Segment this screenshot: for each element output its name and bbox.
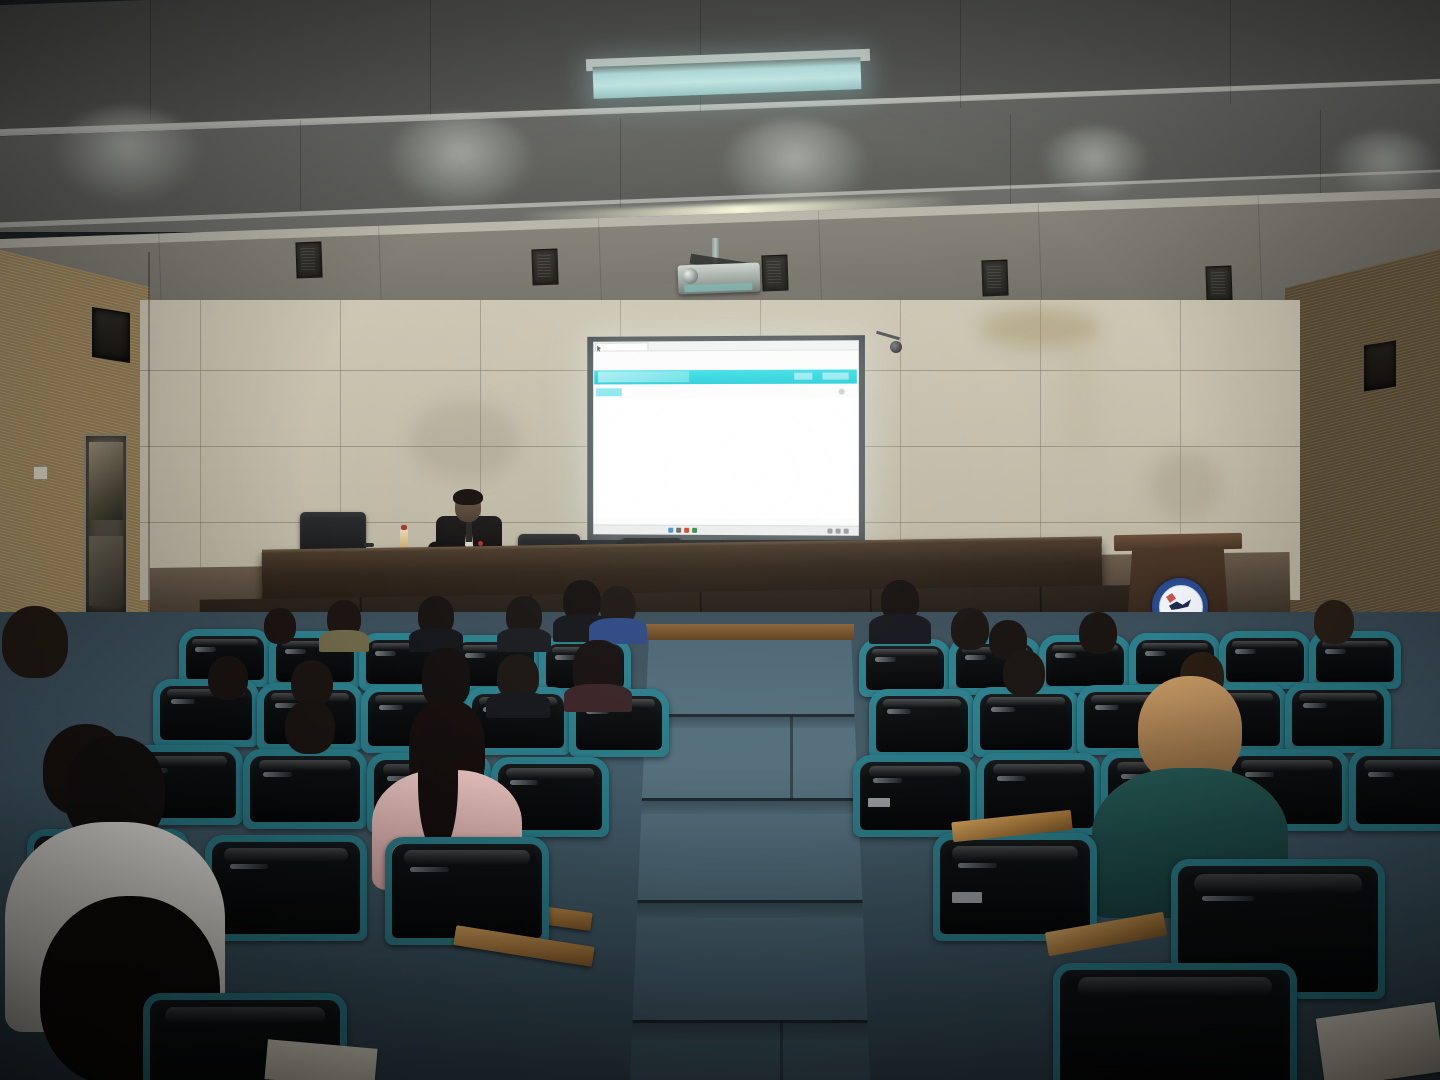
os-taskbar[interactable] [593, 524, 859, 535]
audience-member [500, 596, 548, 644]
page-banner [594, 369, 857, 384]
audience-member [274, 700, 346, 766]
stage-step-trim [646, 624, 854, 640]
banner-title-text [598, 371, 689, 382]
seat[interactable] [860, 762, 970, 830]
ceiling-speaker-icon [761, 255, 788, 292]
wall-speaker-icon [1364, 340, 1396, 391]
seat[interactable] [866, 646, 944, 690]
audience-member [592, 586, 644, 640]
audience-member [258, 608, 302, 648]
wall-speaker-icon [92, 307, 130, 363]
audience-member [1306, 600, 1362, 652]
audience-member [416, 648, 476, 708]
seat[interactable] [1356, 756, 1440, 824]
browser-toolbar [593, 340, 859, 351]
lecture-hall-photo [0, 0, 1440, 1080]
page-avatar-icon [839, 389, 845, 395]
bottle-cap [401, 525, 407, 530]
audience-member [0, 606, 80, 702]
ceiling-speaker-icon [1205, 266, 1232, 303]
wall-poster-panel [84, 434, 128, 614]
camera-icon [890, 341, 902, 353]
seat[interactable] [1060, 970, 1290, 1080]
light-switch[interactable] [33, 466, 48, 480]
audience-member [412, 596, 460, 644]
page-body [593, 398, 859, 519]
browser-tab [595, 342, 648, 350]
banner-button-1[interactable] [794, 373, 812, 380]
audience-member [996, 650, 1052, 706]
ceiling-speaker-icon [295, 242, 322, 279]
banner-button-2[interactable] [822, 373, 848, 380]
projector-lens-icon [682, 268, 698, 284]
ceiling-speaker-icon [531, 249, 558, 286]
ceiling-speaker-icon [981, 260, 1008, 297]
audience-member [566, 640, 630, 706]
seat[interactable] [876, 696, 968, 752]
audience-member [1072, 612, 1124, 660]
seat[interactable] [392, 844, 542, 938]
page-sub-label [596, 388, 622, 396]
seat[interactable] [940, 840, 1090, 934]
seat[interactable] [1292, 690, 1384, 746]
projection-screen [593, 340, 859, 536]
center-aisle [630, 628, 870, 1080]
audience-member-dark-suit [872, 580, 928, 642]
audience-member [320, 600, 368, 646]
audience-member [200, 656, 256, 708]
